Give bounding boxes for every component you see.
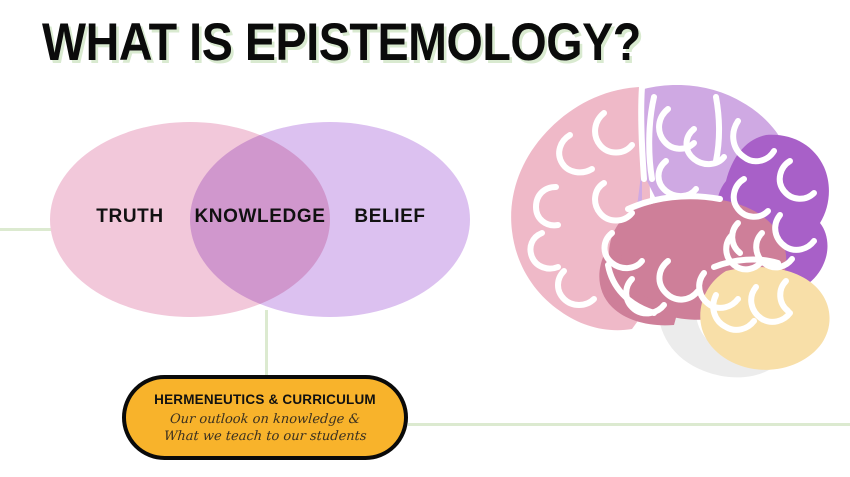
callout-title: HERMENEUTICS & CURRICULUM (154, 392, 376, 407)
callout-box-hermeneutics: HERMENEUTICS & CURRICULUM Our outlook on… (122, 375, 408, 460)
slide-canvas: WHAT IS EPISTEMOLOGY? TRUTH KNOWLEDGE BE… (0, 0, 850, 477)
page-title: WHAT IS EPISTEMOLOGY? (42, 14, 641, 72)
venn-diagram: TRUTH KNOWLEDGE BELIEF (50, 122, 470, 317)
brain-illustration (508, 75, 850, 385)
venn-label-truth: TRUTH (70, 206, 190, 228)
callout-subtitle-line1: Our outlook on knowledge & (169, 411, 360, 428)
venn-label-knowledge: KNOWLEDGE (190, 206, 330, 228)
venn-label-belief: BELIEF (330, 206, 450, 228)
callout-subtitle-line2: What we teach to our students (163, 428, 367, 445)
connector-line-right (408, 423, 850, 426)
connector-line-vertical (265, 310, 268, 380)
